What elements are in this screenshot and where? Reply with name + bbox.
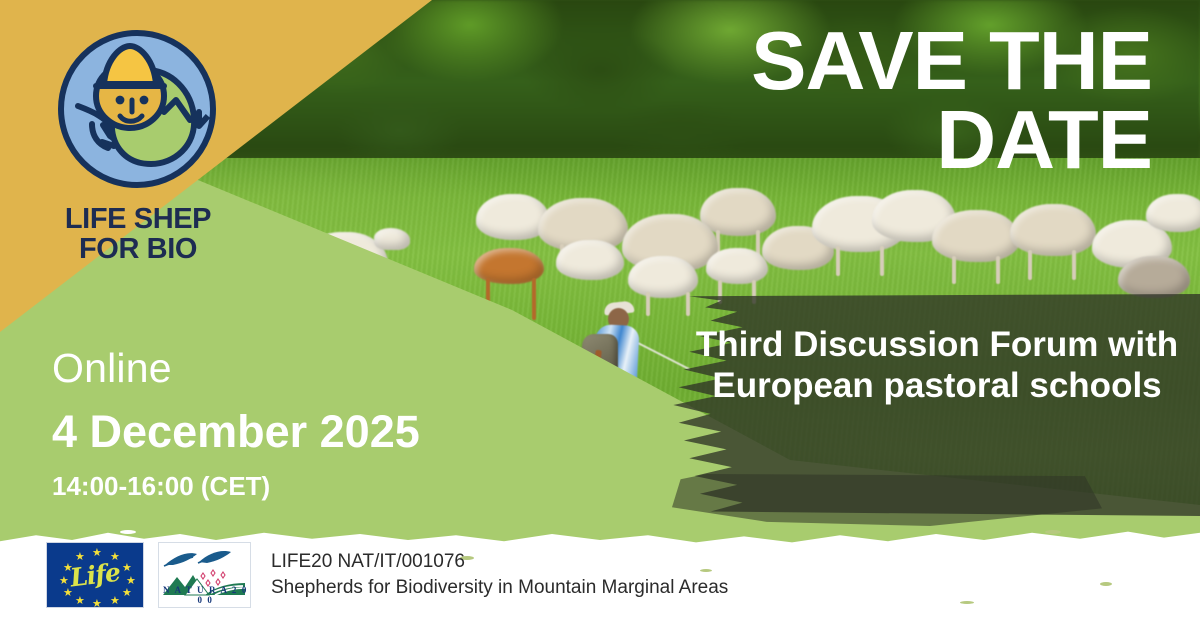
life-wordmark: Life [69,558,122,593]
logo-line-2: FOR BIO [79,233,197,265]
poster-canvas: LIFE SHEP FOR BIO SAVE THE DATE Third Di… [0,0,1200,630]
footer-bar: ★ ★ ★ ★ ★ ★ ★ ★ ★ ★ ★ ★ Life [46,542,728,608]
event-time: 14:00-16:00 (CET) [52,473,472,499]
logo-globe-icon [52,24,222,194]
natura-wordmark: N A T U R A 2 0 0 0 [159,585,251,605]
sheep-leg [880,246,884,276]
sheep [932,210,1020,262]
eu-star: ★ [92,548,102,559]
project-title: Shepherds for Biodiversity in Mountain M… [271,575,728,601]
sheep [556,240,624,280]
sheep-leg [952,256,956,284]
eu-star: ★ [75,596,85,607]
eu-star: ★ [92,599,102,610]
event-date: 4 December 2025 [52,409,472,454]
sheep-leg [996,256,1000,284]
sheep-leg [1028,250,1032,280]
sheep [1146,194,1200,232]
eu-life-flag-logo: ★ ★ ★ ★ ★ ★ ★ ★ ★ ★ ★ ★ Life [46,542,144,608]
project-identity: LIFE20 NAT/IT/001076 Shepherds for Biodi… [271,549,728,600]
life-shep-for-bio-logo: LIFE SHEP FOR BIO [52,24,222,284]
sheep [706,248,768,284]
natura-2000-logo: N A T U R A 2 0 0 0 [158,542,251,608]
save-the-date-line-2: DATE [532,101,1152,180]
sheep-leg [836,246,840,276]
eu-star: ★ [122,563,132,574]
goat-head [374,228,410,250]
sheep [1010,204,1096,256]
event-mode: Online [52,348,472,389]
eu-star: ★ [122,588,132,599]
logo-line-1: LIFE SHEP [65,203,211,235]
forum-title: Third Discussion Forum with European pas… [678,325,1196,407]
sheep-leg [686,292,690,316]
logo-wordmark: LIFE SHEP FOR BIO [46,204,230,264]
sheep [1118,256,1190,298]
event-info-block: Online 4 December 2025 14:00-16:00 (CET) [52,348,472,499]
eu-star: ★ [110,596,120,607]
eu-star: ★ [126,576,136,587]
sheep [700,188,776,236]
save-the-date-heading: SAVE THE DATE [532,22,1152,180]
sheep-leg [1072,250,1076,280]
goat-leg [532,278,536,320]
project-code: LIFE20 NAT/IT/001076 [271,549,728,575]
eu-star: ★ [59,576,69,587]
